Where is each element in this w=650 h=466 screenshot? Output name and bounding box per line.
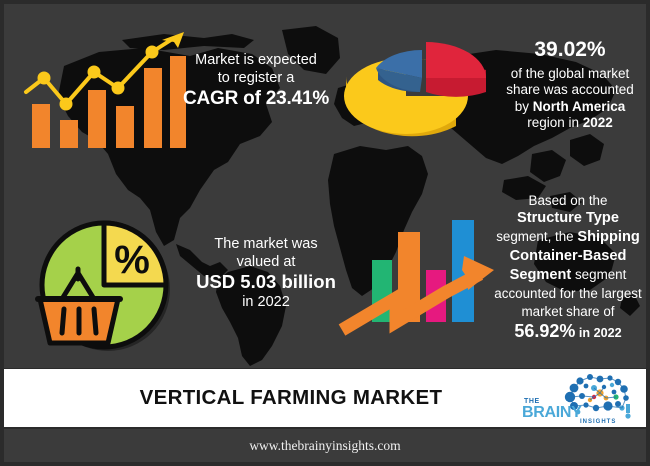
cagr-value-line: CAGR of 23.41% xyxy=(176,87,336,110)
na-year: 2022 xyxy=(583,115,613,130)
cagr-line-2: to register a xyxy=(176,70,336,88)
map-panel: Market is expected to register a CAGR of… xyxy=(4,4,646,368)
seg-line-1: Based on the xyxy=(482,192,646,209)
value-line-2: valued at xyxy=(190,254,342,272)
infographic-root: Market is expected to register a CAGR of… xyxy=(0,0,650,466)
brainy-insights-logo: THE BRAINY INSIGHTS xyxy=(518,372,636,424)
cagr-text-block: Market is expected to register a CAGR of… xyxy=(176,52,336,111)
na-line-3-light: by xyxy=(515,99,533,114)
na-region: North America xyxy=(533,99,626,114)
cagr-line-1: Market is expected xyxy=(176,52,336,70)
logo-exclamation-bar xyxy=(626,404,630,413)
url-bar: www.thebrainyinsights.com xyxy=(4,429,646,462)
na-line-1: of the global market xyxy=(488,66,646,82)
value-year: in 2022 xyxy=(190,294,342,312)
percent-pie-basket-icon: % xyxy=(28,207,184,359)
na-percent: 39.02% xyxy=(488,37,646,63)
seg-segment-bold: Segment xyxy=(510,267,572,283)
seg-container-based: Container-Based xyxy=(482,247,646,266)
page-title: VERTICAL FARMING MARKET xyxy=(4,386,518,410)
na-line-2: share was accounted xyxy=(488,82,646,98)
seg-percent: 56.92% xyxy=(514,321,575,341)
logo-svg: THE BRAINY INSIGHTS xyxy=(518,372,636,424)
seg-line-7: market share of xyxy=(482,303,646,320)
title-band: VERTICAL FARMING MARKET xyxy=(4,369,646,427)
bar-chart-growth-arrow xyxy=(334,200,504,352)
logo-insights: INSIGHTS xyxy=(580,419,616,424)
seg-line-8: 56.92% in 2022 xyxy=(482,320,646,343)
seg-year: in 2022 xyxy=(575,326,621,340)
seg-structure-type: Structure Type xyxy=(482,209,646,228)
segment-text-block: Based on the Structure Type segment, the… xyxy=(482,192,646,344)
market-value-text-block: The market was valued at USD 5.03 billio… xyxy=(190,236,342,312)
na-line-3: by North America xyxy=(488,99,646,115)
growth-bar-line-chart xyxy=(22,26,190,152)
seg-line-5: Segment segment xyxy=(482,266,646,285)
percent-symbol: % xyxy=(114,238,150,282)
seg-line-3-light: segment, the xyxy=(496,229,577,244)
website-url: www.thebrainyinsights.com xyxy=(249,438,400,454)
seg-line-3: segment, the Shipping xyxy=(482,228,646,247)
three-d-pie-chart xyxy=(340,22,500,162)
seg-segment-light: segment xyxy=(571,267,626,282)
market-value: USD 5.03 billion xyxy=(190,271,342,294)
value-line-1: The market was xyxy=(190,236,342,254)
na-line-4: region in 2022 xyxy=(488,115,646,131)
na-line-4-light: region in xyxy=(527,115,583,130)
seg-line-6: accounted for the largest xyxy=(482,285,646,302)
logo-exclamation-dot xyxy=(625,413,630,418)
north-america-text-block: 39.02% of the global market share was ac… xyxy=(488,37,646,131)
seg-shipping: Shipping xyxy=(577,229,639,245)
logo-brainy: BRAINY xyxy=(522,404,582,421)
